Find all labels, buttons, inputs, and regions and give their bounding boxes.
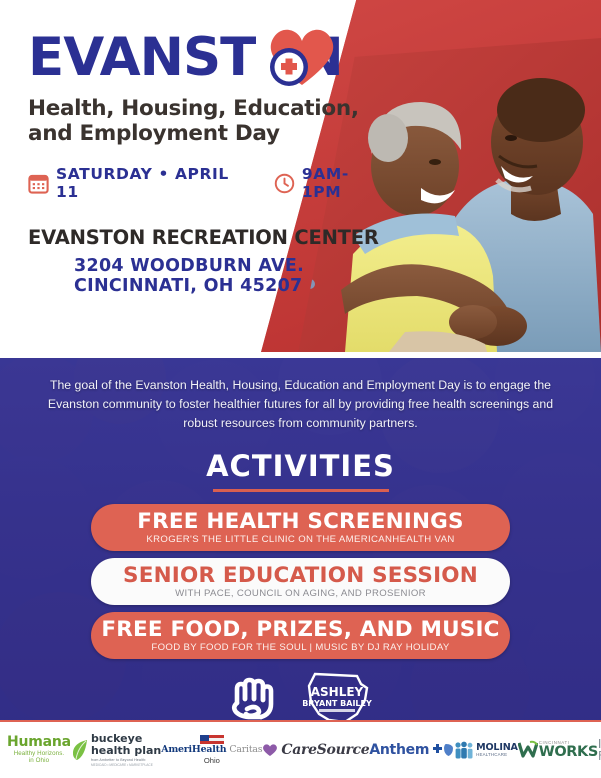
- sponsor-bar: Humana Healthy Horizons. in Ohio buckeye…: [0, 720, 601, 778]
- event-time: 9AM-1PM: [302, 165, 388, 201]
- ohio-state-outline-icon: ASHLEY BRYANT BAILEY: [299, 672, 375, 720]
- body-content: The goal of the Evanston Health, Housing…: [0, 376, 601, 720]
- activity-subtitle: WITH PACE, COUNCIL ON AGING, AND PROSENI…: [175, 588, 426, 599]
- sponsor-name-a: AmeriHealth: [161, 744, 226, 755]
- subtitle-line-1: Health, Housing, Education,: [28, 96, 388, 121]
- sponsor-caresource: CareSource: [262, 742, 369, 758]
- logo-text-left: EVANST: [28, 27, 255, 88]
- flyer-poster: EVANSTON Health, Housing, Education, and…: [0, 0, 601, 778]
- sponsor-name: Humana: [7, 735, 71, 750]
- sponsor-buckeye-health-plan: buckeye health plan from Ambetter to Bey…: [71, 733, 161, 767]
- activities-underline: [213, 489, 389, 492]
- activity-title: SENIOR EDUCATION SESSION: [123, 564, 478, 587]
- sponsor-name: MOLINA: [476, 743, 518, 753]
- activities-title: ACTIVITIES: [206, 449, 395, 487]
- sponsor-molina-healthcare: MOLINA HEALTHCARE: [454, 741, 518, 759]
- sponsor-region: Ohio: [161, 757, 262, 765]
- activity-item-senior-education-session: SENIOR EDUCATION SESSION WITH PACE, COUN…: [91, 558, 510, 605]
- hand-logo-mark-icon: [227, 673, 283, 720]
- sponsor-tagline-2: MEDICAID • MEDICARE • MARKETPLACE: [91, 763, 161, 767]
- clock-icon: [274, 173, 295, 194]
- address-line-1: 3204 WOODBURN AVE.: [74, 256, 388, 276]
- sponsor-name: Anthem: [369, 742, 429, 758]
- sponsor-tagline: from Ambetter to Beyond Health:: [91, 758, 161, 762]
- calendar-icon: [28, 173, 49, 194]
- heart-with-medical-cross-icon: [262, 19, 338, 93]
- sponsor-tagline-2: in Ohio: [7, 758, 71, 765]
- brand-block: EVANSTON Health, Housing, Education, and…: [28, 28, 388, 296]
- activity-title: FREE HEALTH SCREENINGS: [137, 510, 463, 533]
- people-icon: [454, 741, 474, 759]
- activity-title: FREE FOOD, PRIZES, AND MUSIC: [101, 618, 499, 641]
- venue-address: 3204 WOODBURN AVE. CINCINNATI, OH 45207: [74, 256, 388, 296]
- activity-item-free-health-screenings: FREE HEALTH SCREENINGS KROGER'S THE LITT…: [91, 504, 510, 551]
- sponsor-name-b: Caritas: [229, 744, 262, 755]
- sponsor-amerihealth-caritas-ohio: AmeriHealth Caritas Ohio: [161, 735, 262, 766]
- sponsor-name-line-1: buckeye: [91, 733, 161, 745]
- date-time-row: SATURDAY • APRIL 11 9AM-1PM: [28, 165, 388, 201]
- event-subtitle: Health, Housing, Education, and Employme…: [28, 96, 388, 146]
- activities-header: ACTIVITIES: [22, 449, 579, 492]
- sponsor-cincinnati-works: CINCINNATI WORKS: [518, 740, 598, 760]
- activity-item-free-food-prizes-music: FREE FOOD, PRIZES, AND MUSIC FOOD BY FOO…: [91, 612, 510, 659]
- ohio-mark-line-2: BRYANT BAILEY: [302, 699, 372, 708]
- sponsor-name-line-2: health plan: [91, 745, 161, 757]
- venue-name: EVANSTON RECREATION CENTER: [28, 226, 388, 249]
- sponsor-name: WORKS: [539, 745, 598, 760]
- activity-subtitle: FOOD BY FOOD FOR THE SOUL | MUSIC BY DJ …: [151, 642, 449, 653]
- flag-icon: [200, 735, 224, 744]
- sponsor-tagline: HEALTHCARE: [476, 752, 518, 757]
- sponsor-name: AmeriHealth Caritas: [161, 745, 262, 755]
- activity-subtitle: KROGER'S THE LITTLE CLINIC ON THE AMERIC…: [146, 534, 454, 545]
- activities-list: FREE HEALTH SCREENINGS KROGER'S THE LITT…: [22, 504, 579, 659]
- anthem-cross-shield-icon: [432, 743, 454, 757]
- logo-row: EVANSTON: [28, 28, 388, 90]
- heart-icon: [262, 743, 278, 757]
- w-mark-icon: [518, 740, 538, 760]
- event-date: SATURDAY • APRIL 11: [56, 165, 257, 201]
- ashley-bryant-bailey-ohio-mark: ASHLEY BRYANT BAILEY: [299, 672, 375, 720]
- sponsor-humana: Humana Healthy Horizons. in Ohio: [7, 735, 71, 765]
- sponsor-anthem: Anthem: [369, 742, 454, 758]
- body-section: The goal of the Evanston Health, Housing…: [0, 358, 601, 720]
- subtitle-line-2: and Employment Day: [28, 121, 388, 146]
- goal-paragraph: The goal of the Evanston Health, Housing…: [22, 376, 579, 433]
- address-line-2: CINCINNATI, OH 45207: [74, 276, 388, 296]
- ohio-mark-line-1: ASHLEY: [310, 685, 363, 699]
- sponsor-name: CareSource: [281, 742, 369, 758]
- header-section: EVANSTON Health, Housing, Education, and…: [0, 0, 601, 352]
- partner-marks: ASHLEY BRYANT BAILEY: [22, 672, 579, 720]
- leaf-icon: [71, 738, 88, 762]
